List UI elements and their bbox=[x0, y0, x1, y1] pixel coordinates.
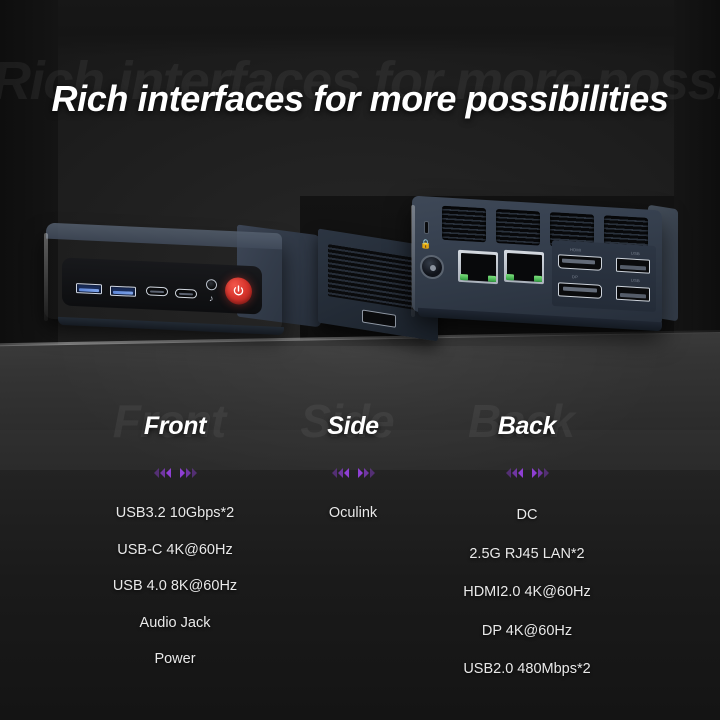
lock-icon: 🔒 bbox=[420, 239, 431, 251]
dp-label: DP bbox=[572, 274, 578, 279]
column-heading-text: Front bbox=[75, 412, 275, 441]
list-item: USB2.0 480Mbps*2 bbox=[427, 651, 627, 690]
dc-power-jack bbox=[420, 254, 444, 279]
front-io-panel: ♪ bbox=[62, 257, 262, 314]
oculink-port bbox=[362, 309, 396, 327]
rj45-led bbox=[506, 274, 514, 280]
spec-columns: Front Front USB3.2 10Gbps*2 USB-C 4K@60H… bbox=[0, 406, 720, 696]
page-title-text: Rich interfaces for more possibilities bbox=[0, 78, 720, 120]
chevron-divider bbox=[427, 462, 627, 484]
column-heading-front: Front Front bbox=[75, 406, 275, 452]
audio-jack-port: ♪ bbox=[206, 279, 217, 290]
page-title: Rich interfaces for more possibilities R… bbox=[0, 56, 720, 128]
list-item: 2.5G RJ45 LAN*2 bbox=[427, 536, 627, 575]
usb-a-blue-port bbox=[110, 286, 136, 297]
rj45-led bbox=[460, 274, 468, 280]
rj45-led bbox=[534, 276, 542, 282]
usb-label-top: USB bbox=[631, 251, 640, 257]
rj45-led bbox=[488, 276, 496, 282]
headphone-icon: ♪ bbox=[209, 294, 217, 303]
list-item: DC bbox=[427, 497, 627, 536]
back-unit-edge-highlight bbox=[411, 205, 415, 317]
rj45-lan-port bbox=[504, 250, 544, 284]
kensington-lock-slot bbox=[424, 221, 429, 234]
chevron-divider bbox=[268, 462, 438, 484]
usb-c-port bbox=[175, 289, 197, 299]
power-button[interactable] bbox=[225, 277, 252, 305]
top-fade-overlay bbox=[0, 0, 720, 56]
spec-list-back: DC 2.5G RJ45 LAN*2 HDMI2.0 4K@60Hz DP 4K… bbox=[427, 497, 627, 690]
chevrons-right-icon bbox=[532, 468, 549, 478]
spec-list-side: Oculink bbox=[268, 496, 438, 533]
usb-a-black-port bbox=[616, 286, 650, 302]
back-video-usb-block: HDMI DP USB USB bbox=[552, 240, 656, 312]
spec-list-front: USB3.2 10Gbps*2 USB-C 4K@60Hz USB 4.0 8K… bbox=[75, 496, 275, 679]
chevrons-left-icon bbox=[154, 468, 171, 478]
list-item: DP 4K@60Hz bbox=[427, 613, 627, 652]
vent-slot bbox=[496, 209, 540, 246]
chevrons-right-icon bbox=[180, 468, 197, 478]
hdmi-port bbox=[558, 254, 602, 271]
usb-c-port bbox=[146, 286, 168, 296]
column-heading-text: Back bbox=[427, 412, 627, 441]
spec-column-back: Back Back DC 2.5G RJ45 LAN*2 HDMI2.0 4K@… bbox=[427, 406, 627, 690]
front-unit-edge-highlight bbox=[44, 233, 48, 321]
rj45-lan-port bbox=[458, 250, 498, 284]
list-item: USB-C 4K@60Hz bbox=[75, 533, 275, 570]
mini-pc-back-view: 🔒 HDMI DP USB USB bbox=[404, 203, 676, 335]
list-item: Power bbox=[75, 642, 275, 679]
list-item: HDMI2.0 4K@60Hz bbox=[427, 574, 627, 613]
usb-a-black-port bbox=[616, 258, 650, 274]
list-item: USB 4.0 8K@60Hz bbox=[75, 569, 275, 606]
mini-pc-front-view: ♪ bbox=[44, 226, 320, 330]
product-feature-scene: Rich interfaces for more possibilities R… bbox=[0, 0, 720, 720]
displayport-port bbox=[558, 282, 602, 299]
list-item: Oculink bbox=[268, 496, 438, 533]
spec-column-front: Front Front USB3.2 10Gbps*2 USB-C 4K@60H… bbox=[75, 406, 275, 679]
column-heading-back: Back Back bbox=[427, 406, 627, 452]
spec-column-side: Side Side Oculink bbox=[268, 406, 438, 533]
usb-a-blue-port bbox=[76, 283, 102, 294]
column-heading-text: Side bbox=[268, 412, 438, 441]
list-item: USB3.2 10Gbps*2 bbox=[75, 496, 275, 533]
chevron-divider bbox=[75, 462, 275, 484]
power-icon bbox=[232, 284, 245, 298]
list-item: Audio Jack bbox=[75, 606, 275, 643]
chevrons-right-icon bbox=[358, 468, 375, 478]
chevrons-left-icon bbox=[506, 468, 523, 478]
vent-slot bbox=[442, 206, 486, 243]
usb-label-bottom: USB bbox=[631, 278, 640, 284]
column-heading-side: Side Side bbox=[268, 406, 438, 452]
hdmi-label: HDMI bbox=[570, 247, 581, 253]
chevrons-left-icon bbox=[332, 468, 349, 478]
